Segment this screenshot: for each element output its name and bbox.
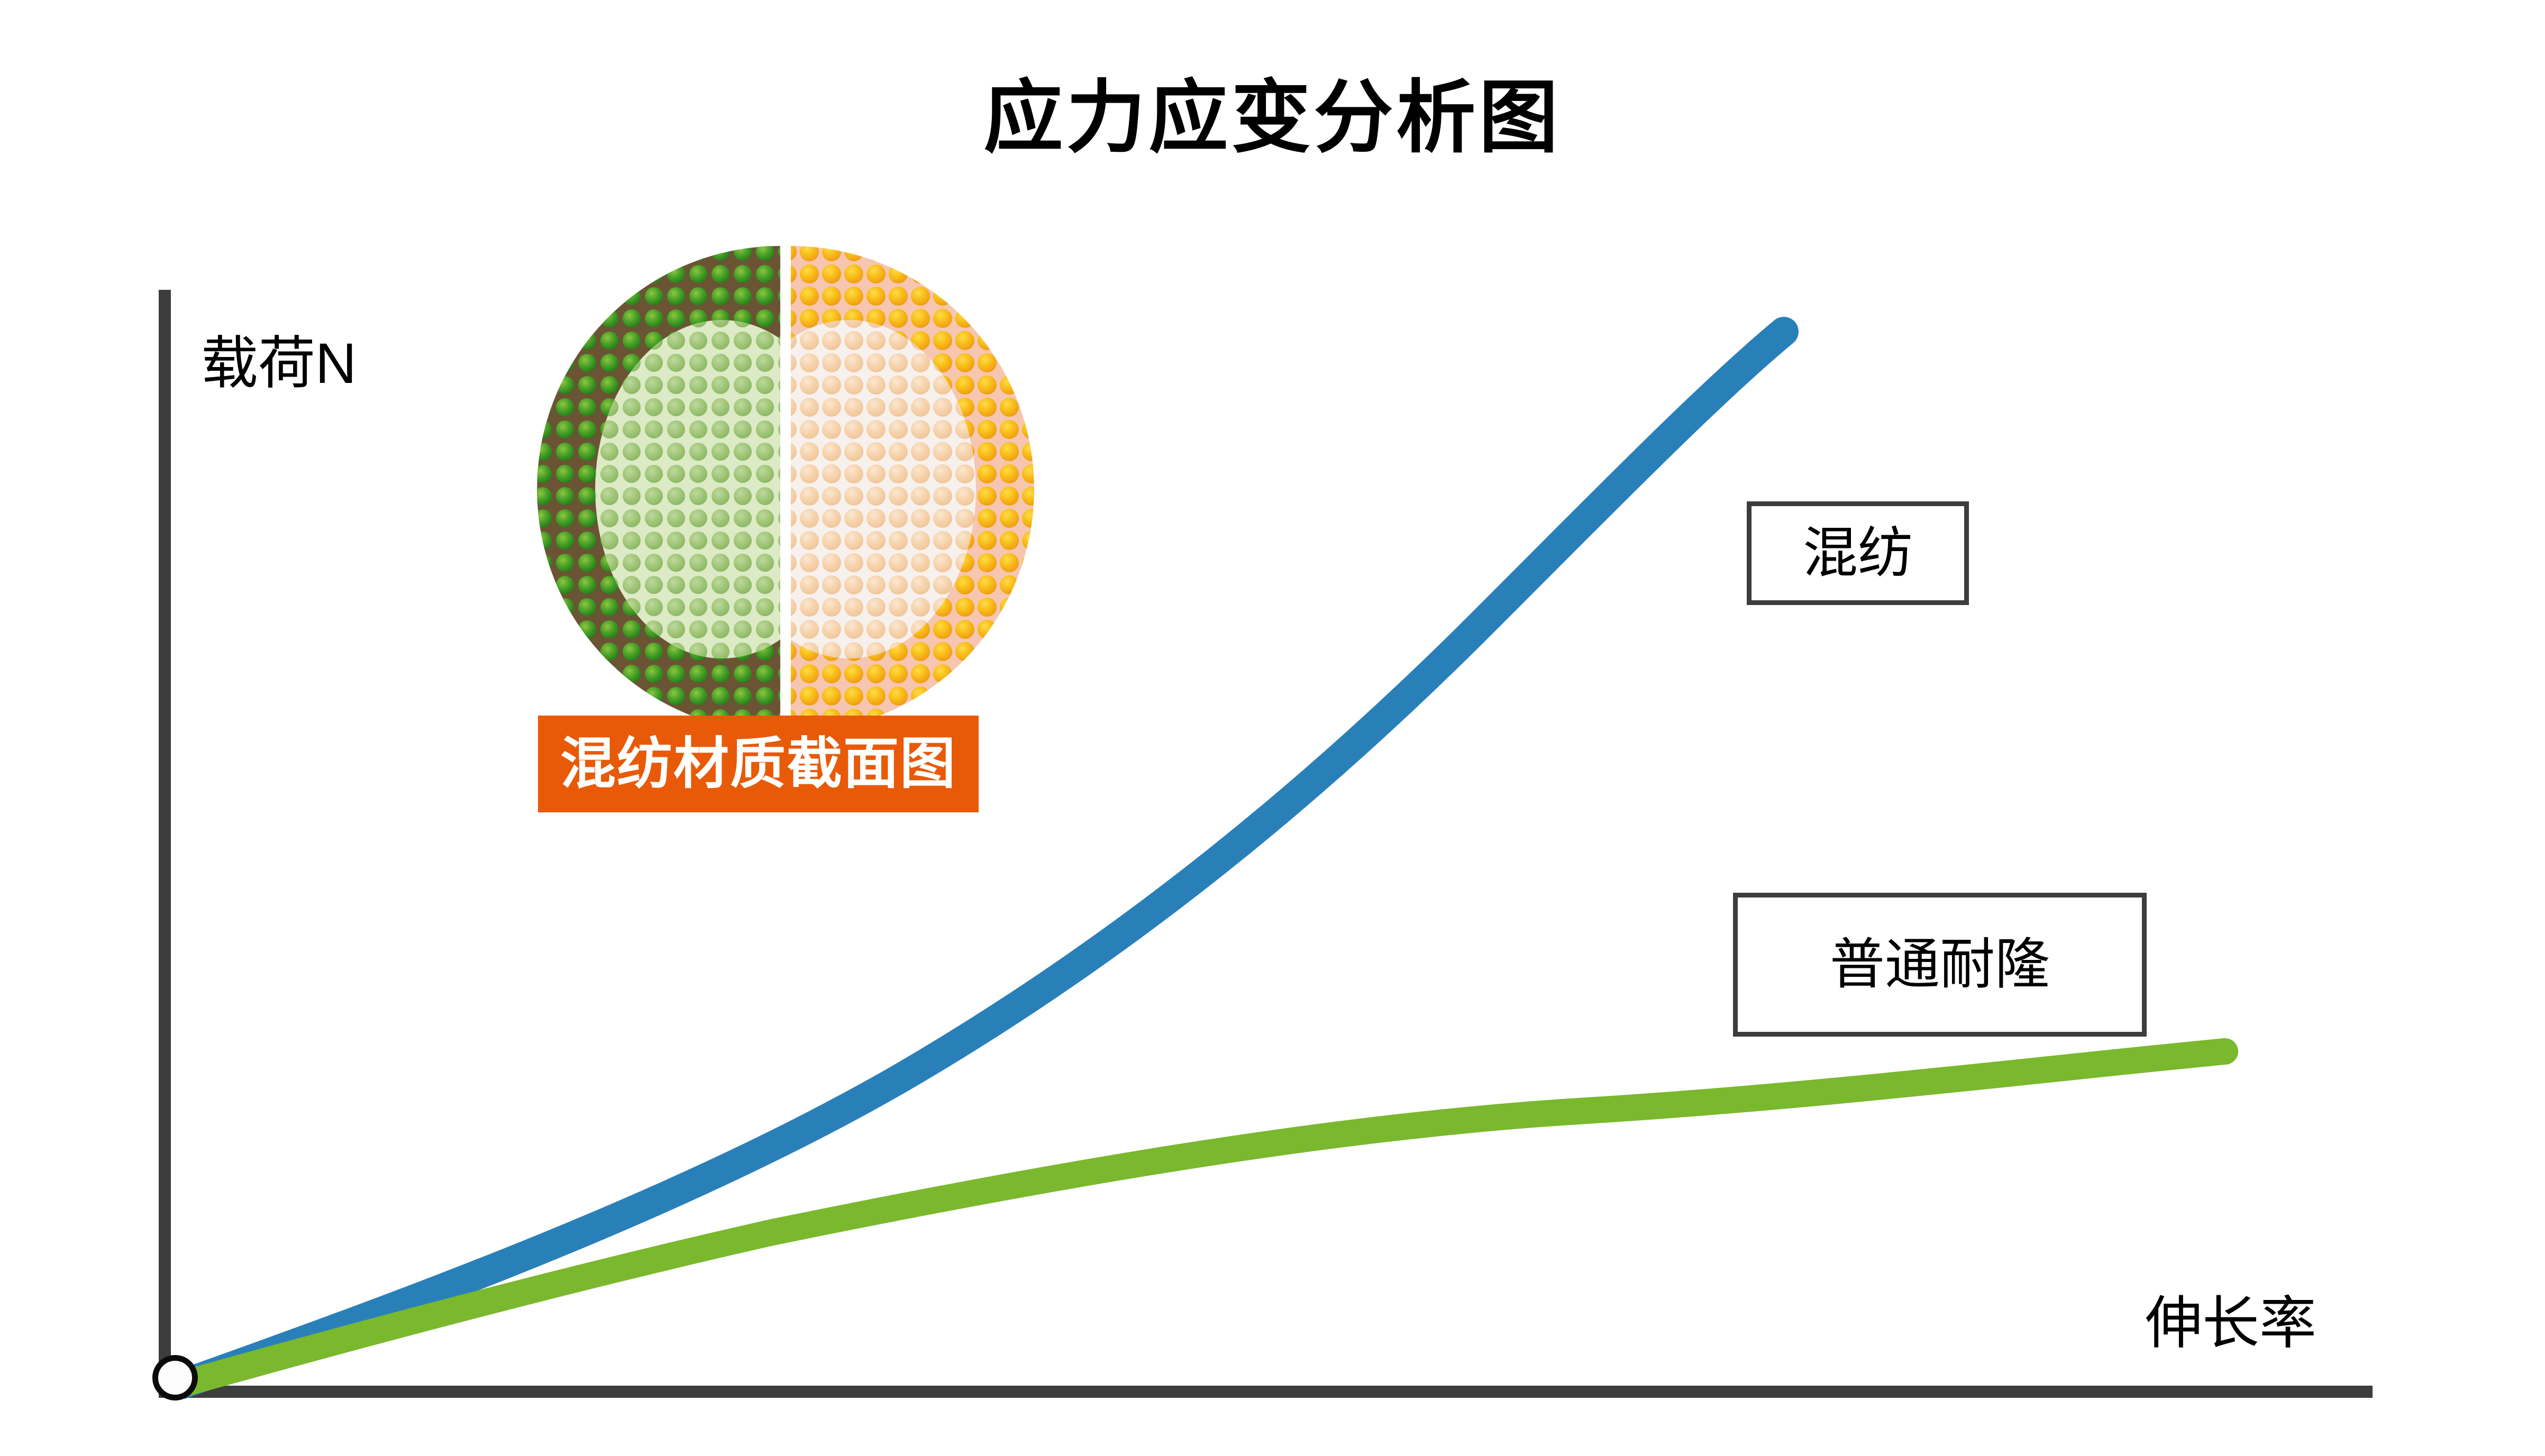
chart-canvas: 应力应变分析图 载荷N 伸长率 混纺 普通耐隆 [0,0,2545,1456]
series-callout-nylon-label: 普通耐隆 [1830,937,2050,992]
series-curves [0,0,2545,1456]
cross-section-split-gap [780,241,791,738]
cross-section-caption-label: 混纺材质截面图 [560,736,956,792]
origin-circle-marker [152,1355,198,1400]
cross-section-inset: 混纺材质截面图 [532,241,1039,820]
series-callout-blend[interactable]: 混纺 [1747,501,1969,605]
cross-section-caption-badge: 混纺材质截面图 [538,716,979,812]
series-callout-nylon[interactable]: 普通耐隆 [1733,893,2147,1037]
series-line-nylon [183,1051,2225,1384]
cross-section-diagram-icon [532,241,1039,738]
series-callout-blend-label: 混纺 [1803,526,1913,581]
